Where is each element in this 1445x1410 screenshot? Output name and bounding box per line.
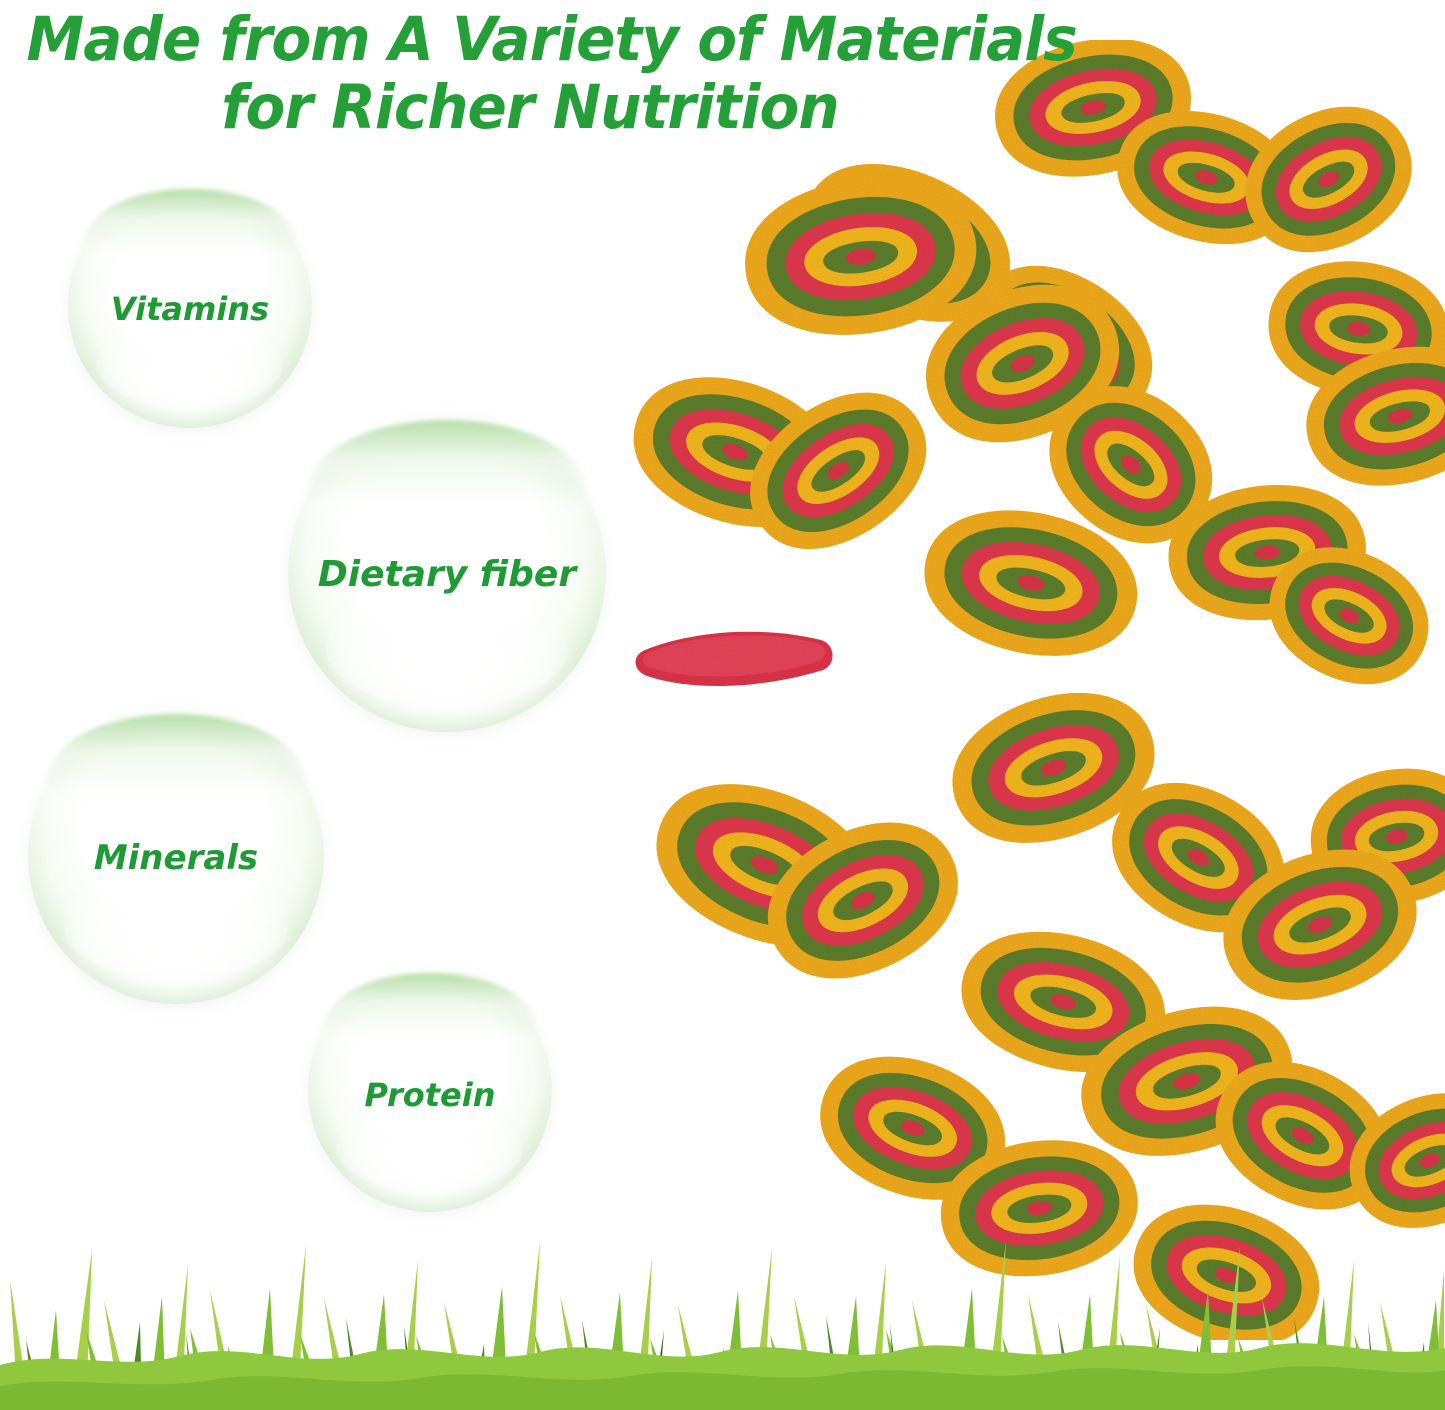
- benefit-label-minerals: Minerals: [28, 838, 324, 878]
- grass-border-decoration: [0, 1210, 1445, 1410]
- headline-line-1: Made from A Variety of Materials: [27, 6, 1034, 74]
- benefit-bubble-minerals: Minerals: [28, 708, 324, 1004]
- benefit-bubble-dietary-fiber: Dietary fiber: [288, 414, 606, 732]
- benefit-bubble-protein: Protein: [308, 968, 552, 1212]
- headline: Made from A Variety of Materials for Ric…: [0, 6, 1060, 142]
- infographic-canvas: .r0{fill:#f0ab1b} .r1{fill:#5d7f2c} .r2{…: [0, 0, 1445, 1410]
- benefit-bubble-vitamins: Vitamins: [68, 184, 312, 428]
- benefit-label-vitamins: Vitamins: [68, 290, 312, 328]
- product-image-treat-pile: .r0{fill:#f0ab1b} .r1{fill:#5d7f2c} .r2{…: [585, 40, 1445, 1340]
- benefit-label-protein: Protein: [308, 1076, 552, 1114]
- headline-line-2: for Richer Nutrition: [27, 74, 1034, 142]
- benefit-label-dietary-fiber: Dietary fiber: [288, 554, 606, 595]
